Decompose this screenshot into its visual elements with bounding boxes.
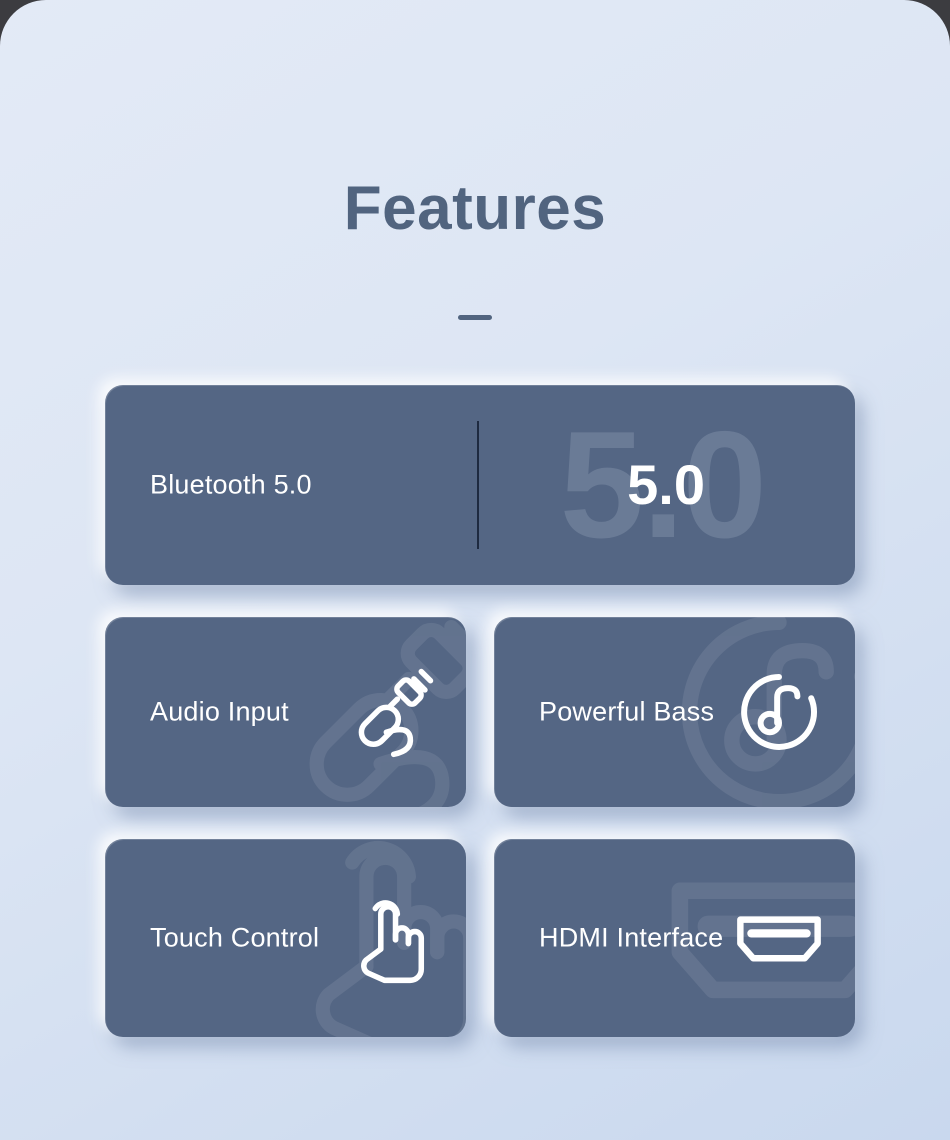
feature-card-touch-control-label: Touch Control — [150, 923, 319, 954]
features-page: Features Bluetooth 5.0 5.0 5.0 Audio Inp… — [0, 0, 950, 1140]
feature-card-audio-input[interactable]: Audio Input — [105, 617, 466, 807]
feature-card-bluetooth-label: Bluetooth 5.0 — [150, 470, 312, 501]
feature-card-audio-input-label: Audio Input — [150, 697, 289, 728]
page-header: Features — [0, 0, 950, 320]
bluetooth-version-value: 5.0 — [627, 457, 705, 513]
feature-card-hdmi-interface[interactable]: HDMI Interface — [494, 839, 855, 1037]
page-title: Features — [0, 178, 950, 240]
feature-card-touch-control[interactable]: Touch Control — [105, 839, 466, 1037]
music-note-circle-icon — [733, 666, 825, 758]
feature-card-powerful-bass[interactable]: Powerful Bass — [494, 617, 855, 807]
hdmi-port-icon — [733, 892, 825, 984]
feature-card-row-1: Audio Input — [105, 617, 855, 807]
touch-hand-icon — [344, 892, 436, 984]
feature-card-bluetooth[interactable]: Bluetooth 5.0 5.0 5.0 — [105, 385, 855, 585]
feature-card-grid: Bluetooth 5.0 5.0 5.0 Audio Input — [105, 385, 855, 1069]
feature-card-row-2: Touch Control — [105, 839, 855, 1037]
bluetooth-vertical-divider — [477, 421, 479, 549]
title-divider — [458, 315, 492, 320]
audio-jack-cable-icon — [344, 666, 436, 758]
feature-card-powerful-bass-label: Powerful Bass — [539, 697, 714, 728]
feature-card-hdmi-interface-label: HDMI Interface — [539, 923, 723, 954]
